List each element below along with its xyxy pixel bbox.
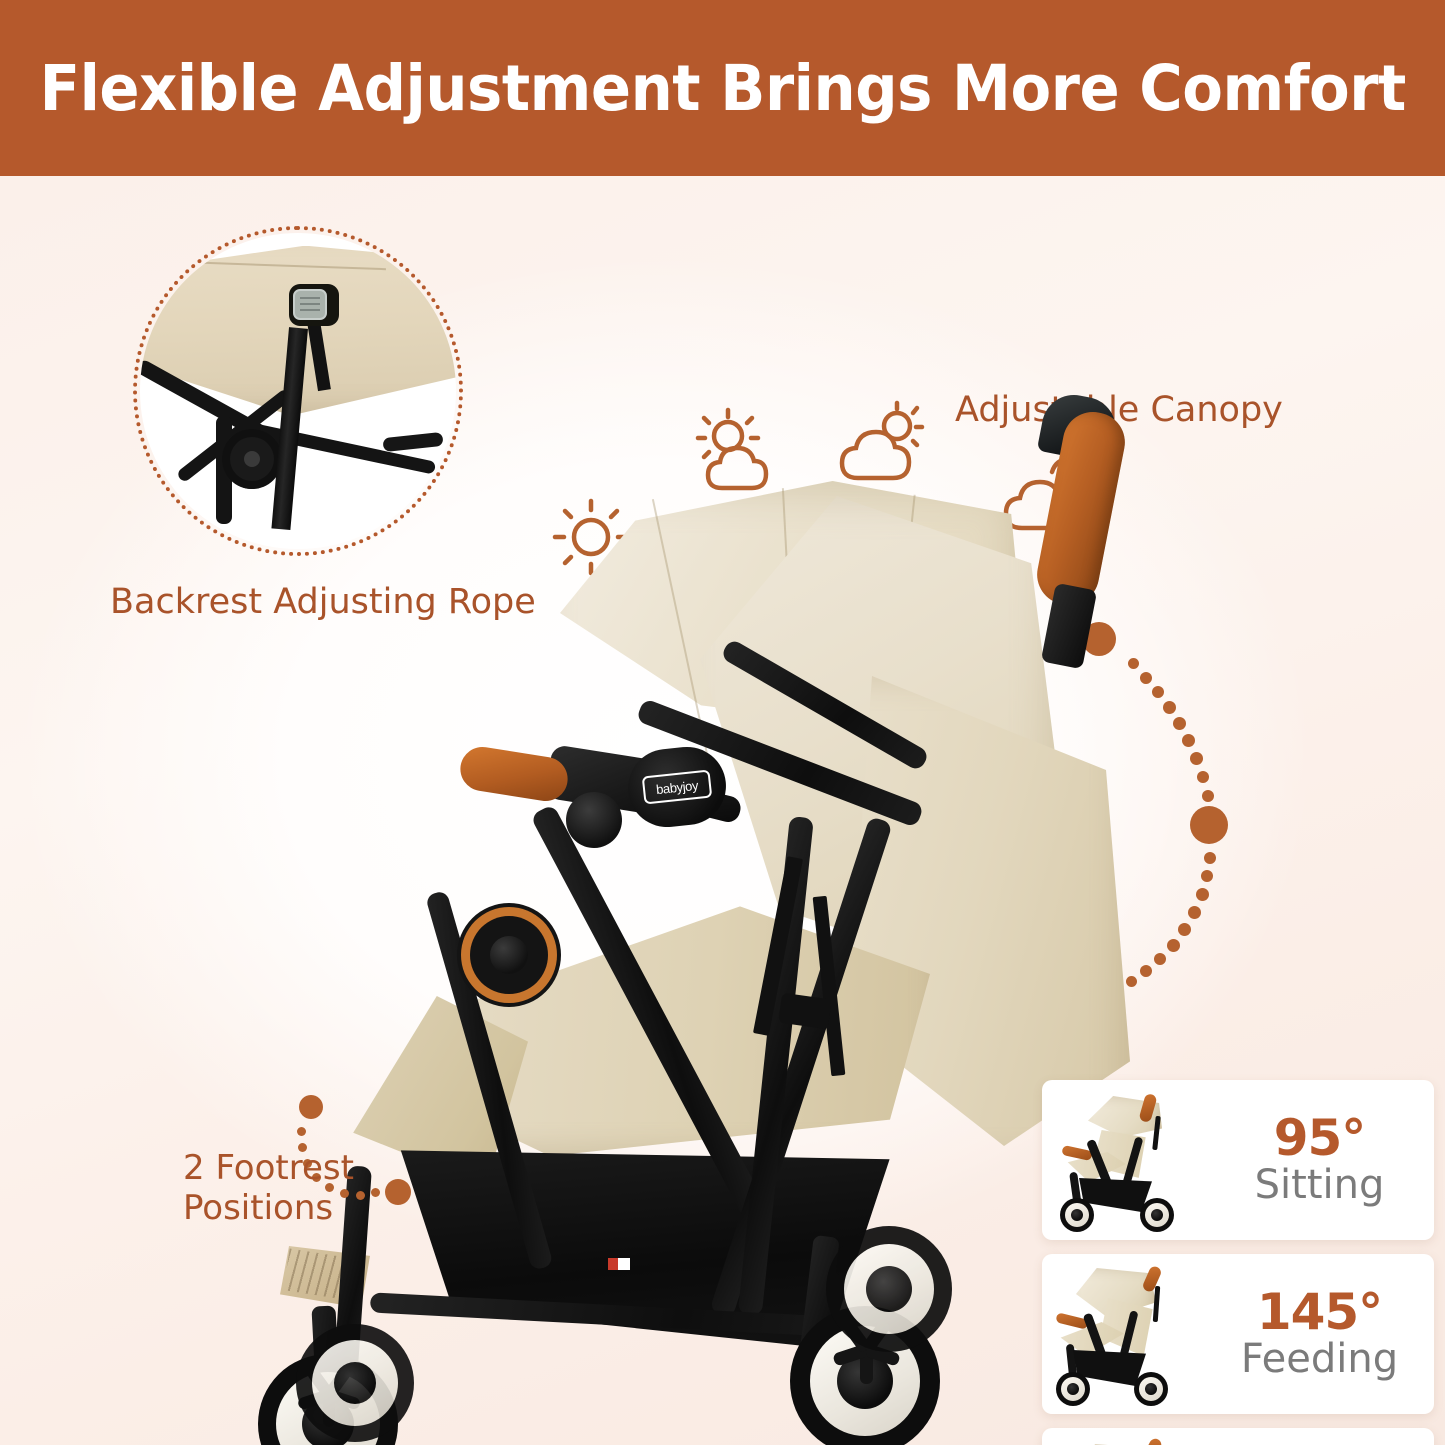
arc-dot	[297, 1127, 306, 1136]
brand-logo-pill: babyjoy	[642, 770, 713, 805]
rear-wheel-back-hub	[866, 1266, 912, 1312]
card-text-block: 95° Sitting	[1227, 1113, 1434, 1207]
angle-degrees: 95°	[1227, 1113, 1412, 1163]
arc-dot	[1197, 771, 1209, 783]
arc-dot	[1204, 852, 1216, 864]
orange-hinge-ring	[470, 916, 548, 994]
angle-mode-label: Feeding	[1227, 1337, 1412, 1381]
arc-dot	[1190, 752, 1203, 765]
angle-card[interactable]: 95° Sitting	[1042, 1080, 1434, 1240]
arc-mid-dot	[1190, 806, 1228, 844]
basket-label-tag	[608, 1258, 630, 1270]
arc-dot	[1202, 790, 1214, 802]
card-stroller-thumb	[1042, 1428, 1227, 1445]
angle-card[interactable]: 145° Feeding	[1042, 1254, 1434, 1414]
footrest-label-line2: Positions	[183, 1188, 443, 1228]
thumb-front-wheel	[1060, 1198, 1094, 1232]
angle-card[interactable]: 175° Sleeping	[1042, 1428, 1434, 1445]
thumb-wheel-hub	[1145, 1383, 1157, 1395]
footrest-callout-label: 2 Footrest Positions	[183, 1148, 443, 1228]
angle-mode-label: Sitting	[1227, 1163, 1412, 1207]
card-text-block: 145° Feeding	[1227, 1287, 1434, 1381]
recline-angle-cards: 95° Sitting	[1042, 1080, 1434, 1445]
infographic-stage: Backrest Adjusting Rope	[0, 176, 1445, 1445]
rear-wheel-back	[826, 1226, 952, 1352]
brand-logo-text: babyjoy	[655, 777, 698, 796]
header-banner: Flexible Adjustment Brings More Comfort	[0, 0, 1445, 176]
arc-dot	[1201, 870, 1213, 882]
arc-dot	[1182, 734, 1195, 747]
thumb-strap	[1153, 1286, 1160, 1322]
stroller-illustration: babyjoy	[230, 296, 1180, 1445]
card-stroller-thumb	[1042, 1080, 1227, 1240]
thumb-front-wheel	[1056, 1372, 1090, 1406]
page-title: Flexible Adjustment Brings More Comfort	[39, 52, 1405, 125]
card-stroller-thumb	[1042, 1254, 1227, 1414]
front-wheel-back-hub	[334, 1362, 376, 1404]
arc-dot	[1188, 906, 1201, 919]
thumb-wheel-hub	[1151, 1209, 1163, 1221]
thumb-rear-wheel	[1134, 1372, 1168, 1406]
angle-degrees: 145°	[1227, 1287, 1412, 1337]
footrest-dot-upper	[299, 1095, 323, 1119]
thumb-wheel-hub	[1071, 1209, 1083, 1221]
front-wheel-back	[296, 1324, 414, 1442]
thumb-rear-wheel	[1140, 1198, 1174, 1232]
footrest-label-line1: 2 Footrest	[183, 1148, 443, 1188]
thumb-wheel-hub	[1067, 1383, 1079, 1395]
thumb-handle-grip	[1141, 1437, 1164, 1445]
arc-dot	[1196, 888, 1209, 901]
